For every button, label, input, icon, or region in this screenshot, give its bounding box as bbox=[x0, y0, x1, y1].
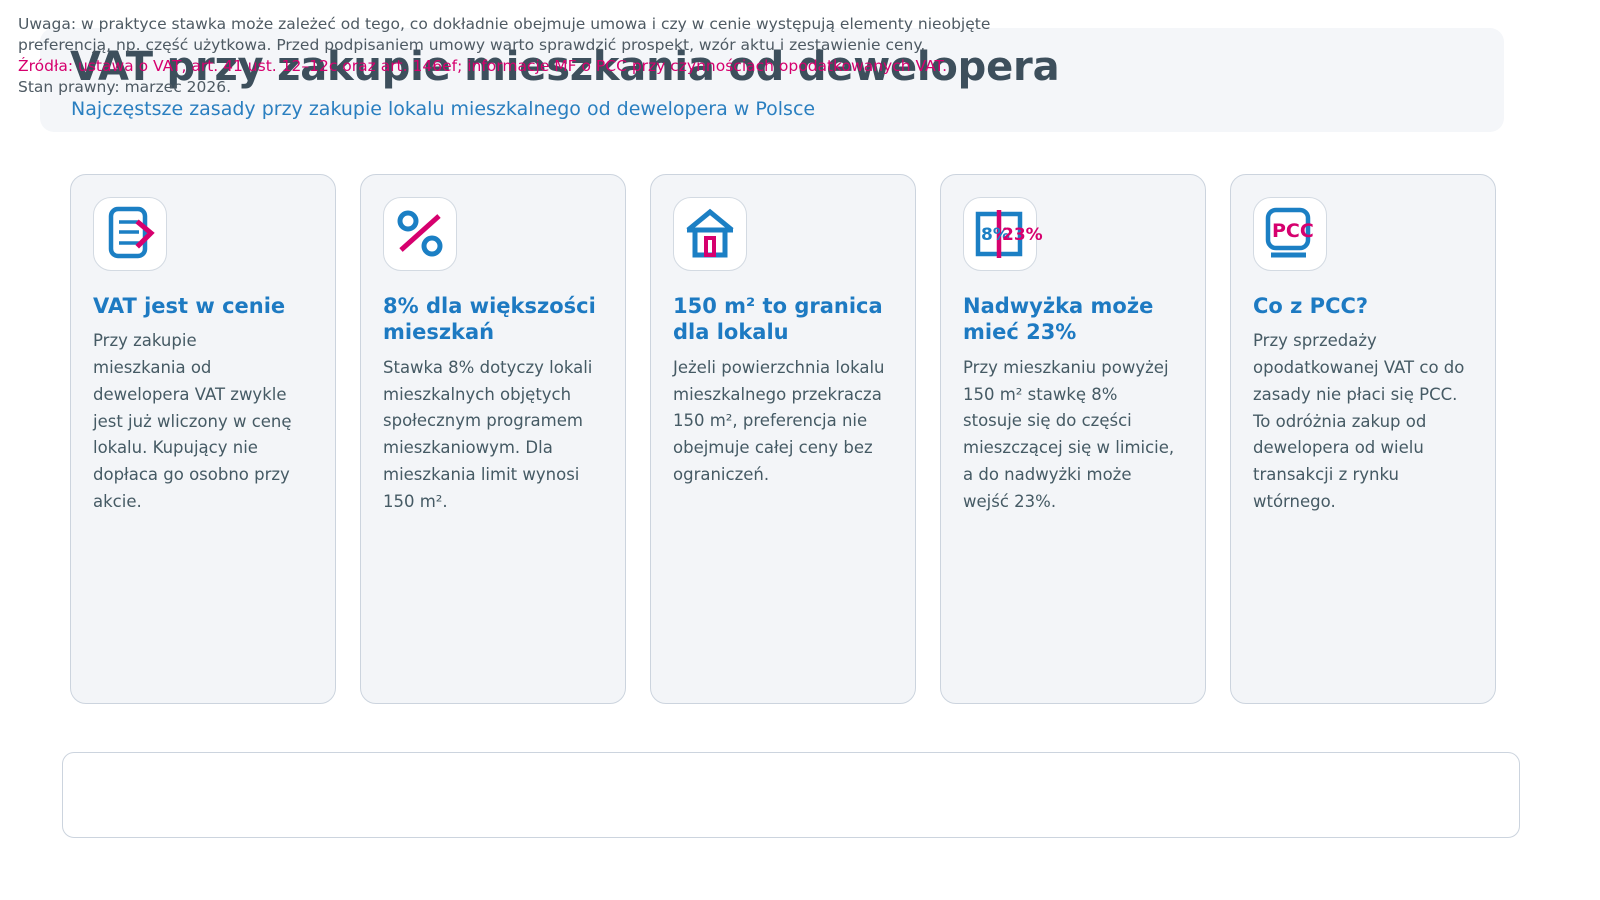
percent-icon bbox=[384, 198, 456, 270]
footer-line-sources: Źródła: ustawa o VAT, art. 41 ust. 12–12… bbox=[18, 56, 1438, 77]
icon-tile: 8% 23% bbox=[963, 197, 1037, 271]
card-150m2-limit[interactable]: 150 m² to granica dla lokalu Jeżeli powi… bbox=[650, 174, 916, 704]
card-excess-23-percent[interactable]: 8% 23% Nadwyżka może mieć 23% Przy miesz… bbox=[940, 174, 1206, 704]
card-body: Przy zakupie mieszkania od dewelopera VA… bbox=[93, 328, 293, 515]
footer-line-2: preferencją, np. część użytkowa. Przed p… bbox=[18, 35, 1438, 56]
card-heading: Co z PCC? bbox=[1253, 293, 1468, 319]
split-rate-icon: 8% 23% bbox=[964, 198, 1072, 270]
card-heading: VAT jest w cenie bbox=[93, 293, 308, 319]
icon-label-pcc: PCC bbox=[1272, 220, 1314, 242]
document-lines-icon bbox=[94, 198, 166, 270]
icon-label-right: 23% bbox=[1002, 225, 1043, 245]
card-8-percent[interactable]: 8% dla większości mieszkań Stawka 8% dot… bbox=[360, 174, 626, 704]
icon-tile bbox=[383, 197, 457, 271]
card-heading: Nadwyżka może mieć 23% bbox=[963, 293, 1178, 346]
footer-line-legal-status: Stan prawny: marzec 2026. bbox=[18, 77, 1438, 98]
icon-tile: PCC bbox=[1253, 197, 1327, 271]
card-body: Stawka 8% dotyczy lokali mieszkalnych ob… bbox=[383, 355, 597, 515]
footer-note-box bbox=[62, 752, 1520, 838]
page-subtitle: Najczęstsze zasady przy zakupie lokalu m… bbox=[71, 98, 815, 120]
card-body: Przy mieszkaniu powyżej 150 m² stawkę 8%… bbox=[963, 355, 1177, 515]
card-body: Jeżeli powierzchnia lokalu mieszkalnego … bbox=[673, 355, 887, 489]
card-heading: 150 m² to granica dla lokalu bbox=[673, 293, 888, 346]
card-body: Przy sprzedaży opodatkowanej VAT co do z… bbox=[1253, 328, 1467, 515]
cards-row: VAT jest w cenie Przy zakupie mieszkania… bbox=[70, 174, 1530, 704]
pcc-document-icon: PCC bbox=[1254, 198, 1354, 270]
card-pcc[interactable]: PCC Co z PCC? Przy sprzedaży opodatkowan… bbox=[1230, 174, 1496, 704]
icon-tile bbox=[673, 197, 747, 271]
card-vat-in-price[interactable]: VAT jest w cenie Przy zakupie mieszkania… bbox=[70, 174, 336, 704]
house-icon bbox=[674, 198, 746, 270]
icon-tile bbox=[93, 197, 167, 271]
card-heading: 8% dla większości mieszkań bbox=[383, 293, 598, 346]
footer-note-text: Uwaga: w praktyce stawka może zależeć od… bbox=[18, 14, 1438, 98]
footer-line-1: Uwaga: w praktyce stawka może zależeć od… bbox=[18, 14, 1438, 35]
